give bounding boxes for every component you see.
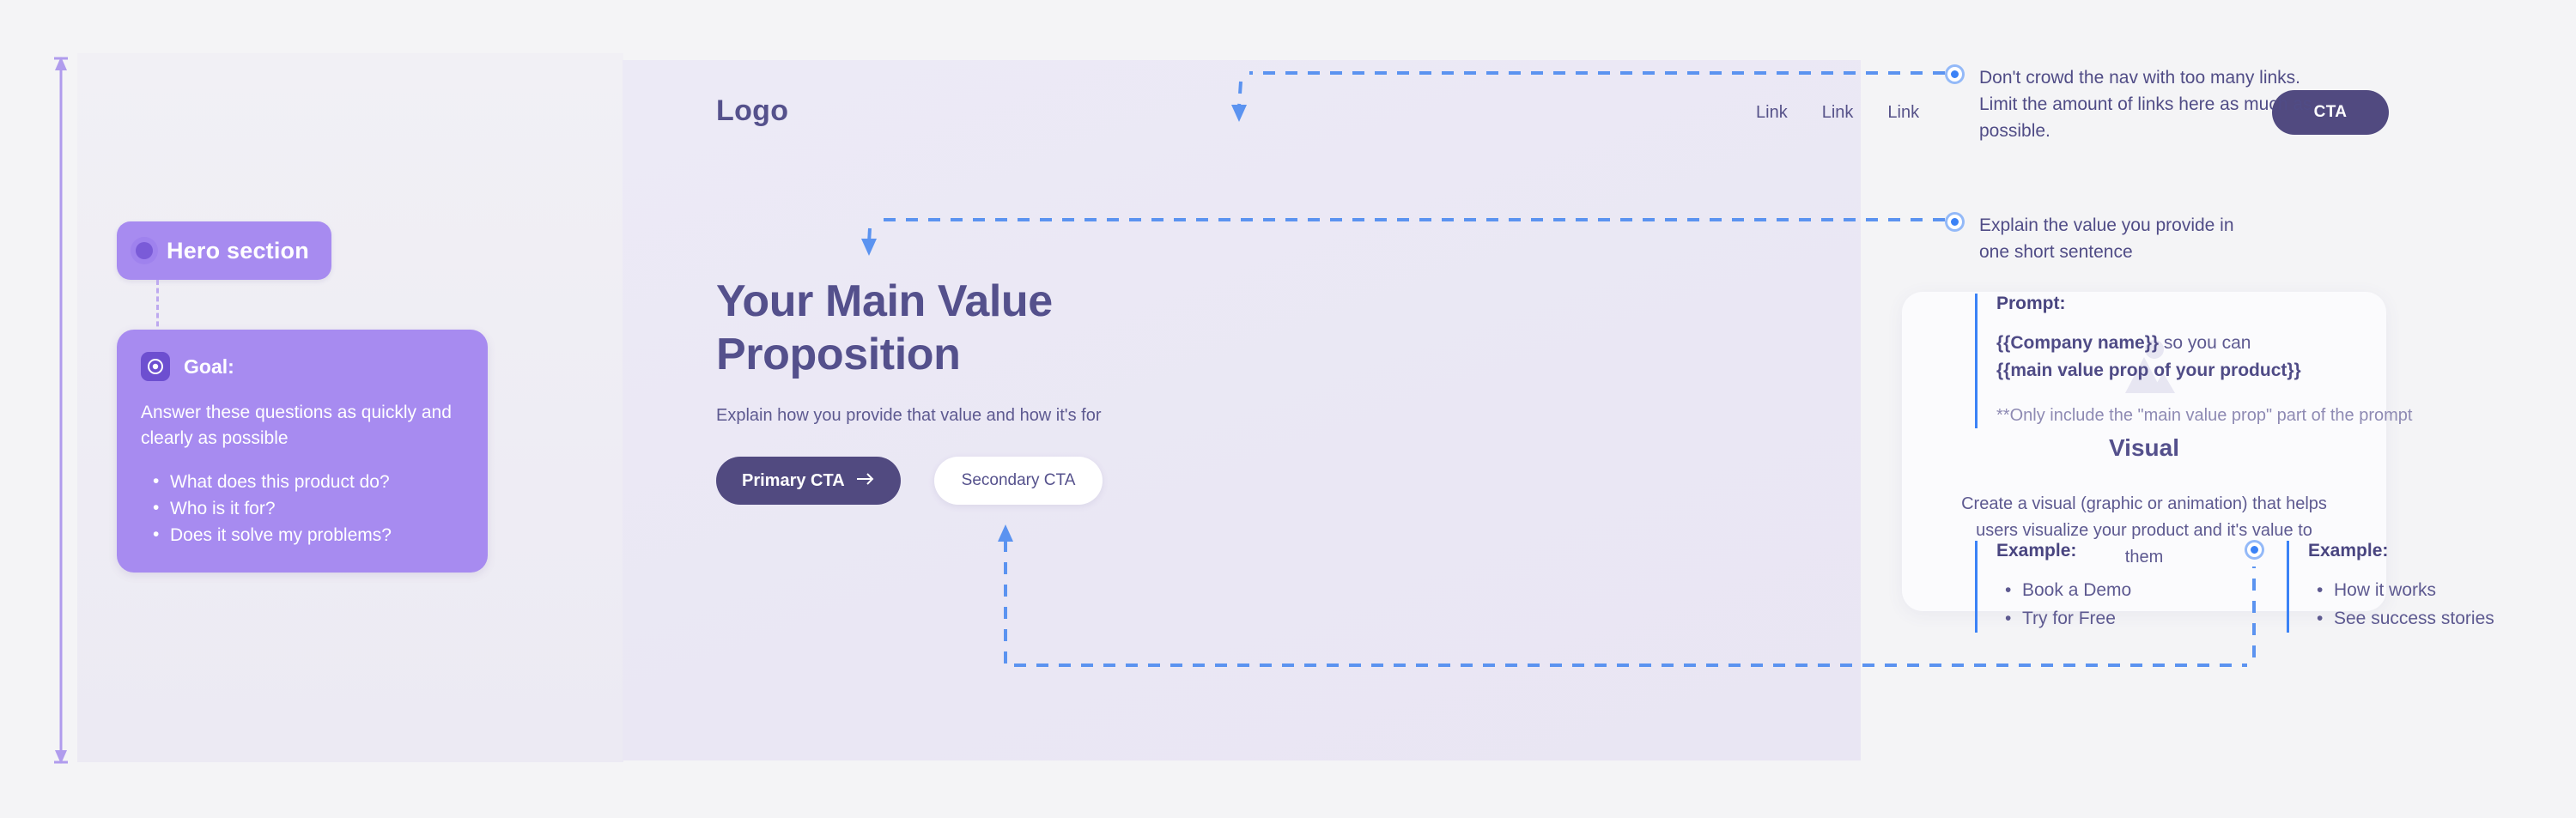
list-item: Try for Free bbox=[1996, 605, 2233, 633]
nav-note: Don't crowd the nav with too many links.… bbox=[1947, 65, 2323, 145]
prompt-block-note: **Only include the "main value prop" par… bbox=[1996, 403, 2421, 428]
list-item: Book a Demo bbox=[1996, 577, 2233, 605]
prompt-block-title: Prompt: bbox=[1996, 294, 2421, 314]
example-secondary-list: How it works See success stories bbox=[2308, 577, 2561, 633]
headline-note-dot bbox=[1947, 215, 1962, 229]
logo[interactable]: Logo bbox=[716, 94, 788, 128]
list-item: Who is it for? bbox=[141, 495, 464, 522]
dot-icon bbox=[136, 242, 153, 259]
nav-note-dot bbox=[1947, 67, 1962, 82]
visual-card-title: Visual bbox=[2109, 434, 2179, 462]
prompt-block-body: {{Company name}} so you can {{main value… bbox=[1996, 330, 2421, 384]
example-secondary-title: Example: bbox=[2308, 541, 2561, 561]
hero-cta-group: Primary CTA Secondary CTA bbox=[716, 457, 1103, 505]
prompt-valueprop-token: {{main value prop of your product}} bbox=[1996, 361, 2301, 380]
primary-cta-button[interactable]: Primary CTA bbox=[716, 457, 901, 505]
prompt-connector-text: so you can bbox=[2159, 333, 2251, 353]
secondary-cta-button[interactable]: Secondary CTA bbox=[934, 457, 1103, 505]
list-item: What does this product do? bbox=[141, 469, 464, 495]
goal-card-title: Goal: bbox=[184, 355, 234, 379]
example-primary-title: Example: bbox=[1996, 541, 2233, 561]
hero-section-pill[interactable]: Hero section bbox=[117, 221, 331, 280]
primary-cta-label: Primary CTA bbox=[742, 471, 845, 491]
list-item: See success stories bbox=[2308, 605, 2561, 633]
mockup-navbar: Logo Link Link Link CTA bbox=[623, 60, 1861, 172]
goal-card-body: Answer these questions as quickly and cl… bbox=[141, 400, 464, 451]
nav-links: Link Link Link bbox=[1756, 103, 1919, 123]
nav-link-3[interactable]: Link bbox=[1887, 103, 1919, 123]
prompt-company-token: {{Company name}} bbox=[1996, 333, 2159, 353]
list-item: Does it solve my problems? bbox=[141, 522, 464, 548]
goal-card: Goal: Answer these questions as quickly … bbox=[117, 330, 488, 573]
headline-note-text: Explain the value you provide in one sho… bbox=[1979, 213, 2263, 266]
landing-page-mockup: Logo Link Link Link CTA Your Main Value … bbox=[623, 60, 1861, 760]
list-item: How it works bbox=[2308, 577, 2561, 605]
nav-note-text: Don't crowd the nav with too many links.… bbox=[1979, 65, 2323, 145]
hero-section-height-measure bbox=[53, 57, 69, 764]
headline-note: Explain the value you provide in one sho… bbox=[1947, 213, 2263, 266]
example-primary-list: Book a Demo Try for Free bbox=[1996, 577, 2233, 633]
page-title: Your Main Value Proposition bbox=[716, 275, 1249, 382]
nav-link-1[interactable]: Link bbox=[1756, 103, 1788, 123]
hero-pill-to-goal-connector bbox=[156, 280, 159, 335]
nav-link-2[interactable]: Link bbox=[1822, 103, 1854, 123]
arrow-right-icon bbox=[856, 471, 875, 491]
example-primary-block: Example: Book a Demo Try for Free bbox=[1975, 541, 2233, 633]
goal-card-header: Goal: bbox=[141, 352, 464, 381]
target-icon bbox=[141, 352, 170, 381]
goal-card-question-list: What does this product do? Who is it for… bbox=[141, 469, 464, 548]
example-primary-dot bbox=[2247, 542, 2262, 557]
screenshot-canvas: Hero section Goal: Answer these question… bbox=[0, 0, 2576, 818]
hero-subhead: Explain how you provide that value and h… bbox=[716, 403, 1102, 427]
prompt-block: Prompt: {{Company name}} so you can {{ma… bbox=[1975, 294, 2421, 428]
example-secondary-block: Example: How it works See success storie… bbox=[2287, 541, 2561, 633]
hero-section-pill-label: Hero section bbox=[167, 238, 309, 264]
